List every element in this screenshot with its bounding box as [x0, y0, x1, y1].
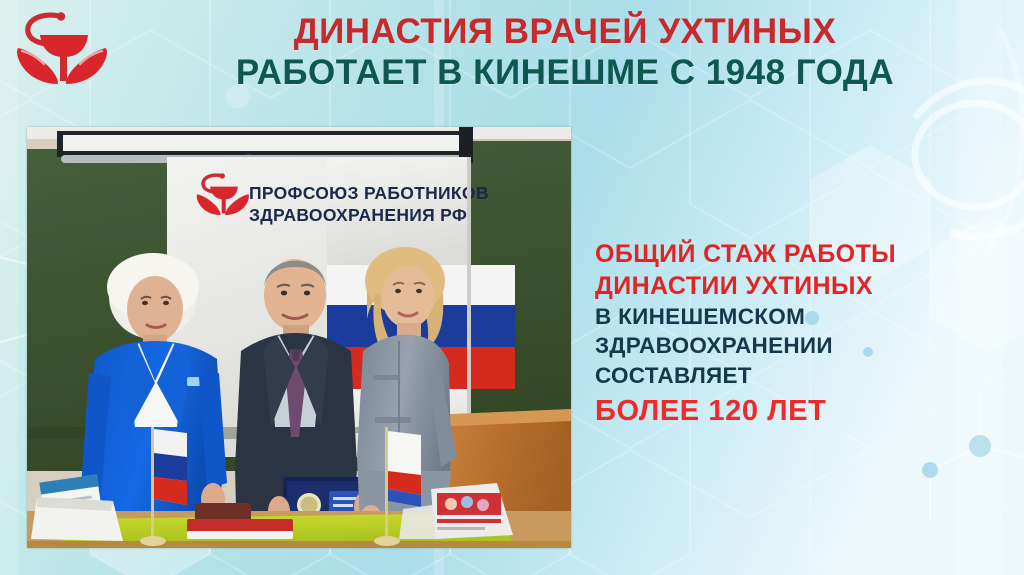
- healthcare-union-logo-icon: [14, 8, 110, 86]
- stat-highlight-line: БОЛЕЕ 120 ЛЕТ: [595, 393, 1003, 430]
- poster-header: ДИНАСТИЯ ВРАЧЕЙ УХТИНЫХ РАБОТАЕТ В КИНЕШ…: [0, 0, 1024, 112]
- svg-text:ПРОФСОЮЗ РАБОТНИКОВ: ПРОФСОЮЗ РАБОТНИКОВ: [249, 183, 489, 203]
- stat-dark-line-2: ЗДРАВООХРАНЕНИИ: [595, 331, 1003, 360]
- page-title-line-2: РАБОТАЕТ В КИНЕШМЕ С 1948 ГОДА: [118, 53, 1012, 92]
- statistics-text-block: ОБЩИЙ СТАЖ РАБОТЫ ДИНАСТИИ УХТИНЫХ В КИН…: [595, 238, 1003, 430]
- svg-text:ЗДРАВООХРАНЕНИЯ РФ: ЗДРАВООХРАНЕНИЯ РФ: [249, 205, 467, 225]
- stat-dark-line-3: СОСТАВЛЯЕТ: [595, 361, 1003, 390]
- stat-dark-line-1: В КИНЕШЕМСКОМ: [595, 302, 1003, 331]
- title-group: ДИНАСТИЯ ВРАЧЕЙ УХТИНЫХ РАБОТАЕТ В КИНЕШ…: [118, 12, 1012, 92]
- poster-root: ДИНАСТИЯ ВРАЧЕЙ УХТИНЫХ РАБОТАЕТ В КИНЕШ…: [0, 0, 1024, 575]
- award-ceremony-photo: ПРОФСОЮЗ РАБОТНИКОВ ЗДРАВООХРАНЕНИЯ РФ П…: [27, 127, 571, 548]
- stat-red-line-2: ДИНАСТИИ УХТИНЫХ: [595, 270, 1003, 302]
- page-title-line-1: ДИНАСТИЯ ВРАЧЕЙ УХТИНЫХ: [118, 12, 1012, 51]
- stat-red-line-1: ОБЩИЙ СТАЖ РАБОТЫ: [595, 238, 1003, 270]
